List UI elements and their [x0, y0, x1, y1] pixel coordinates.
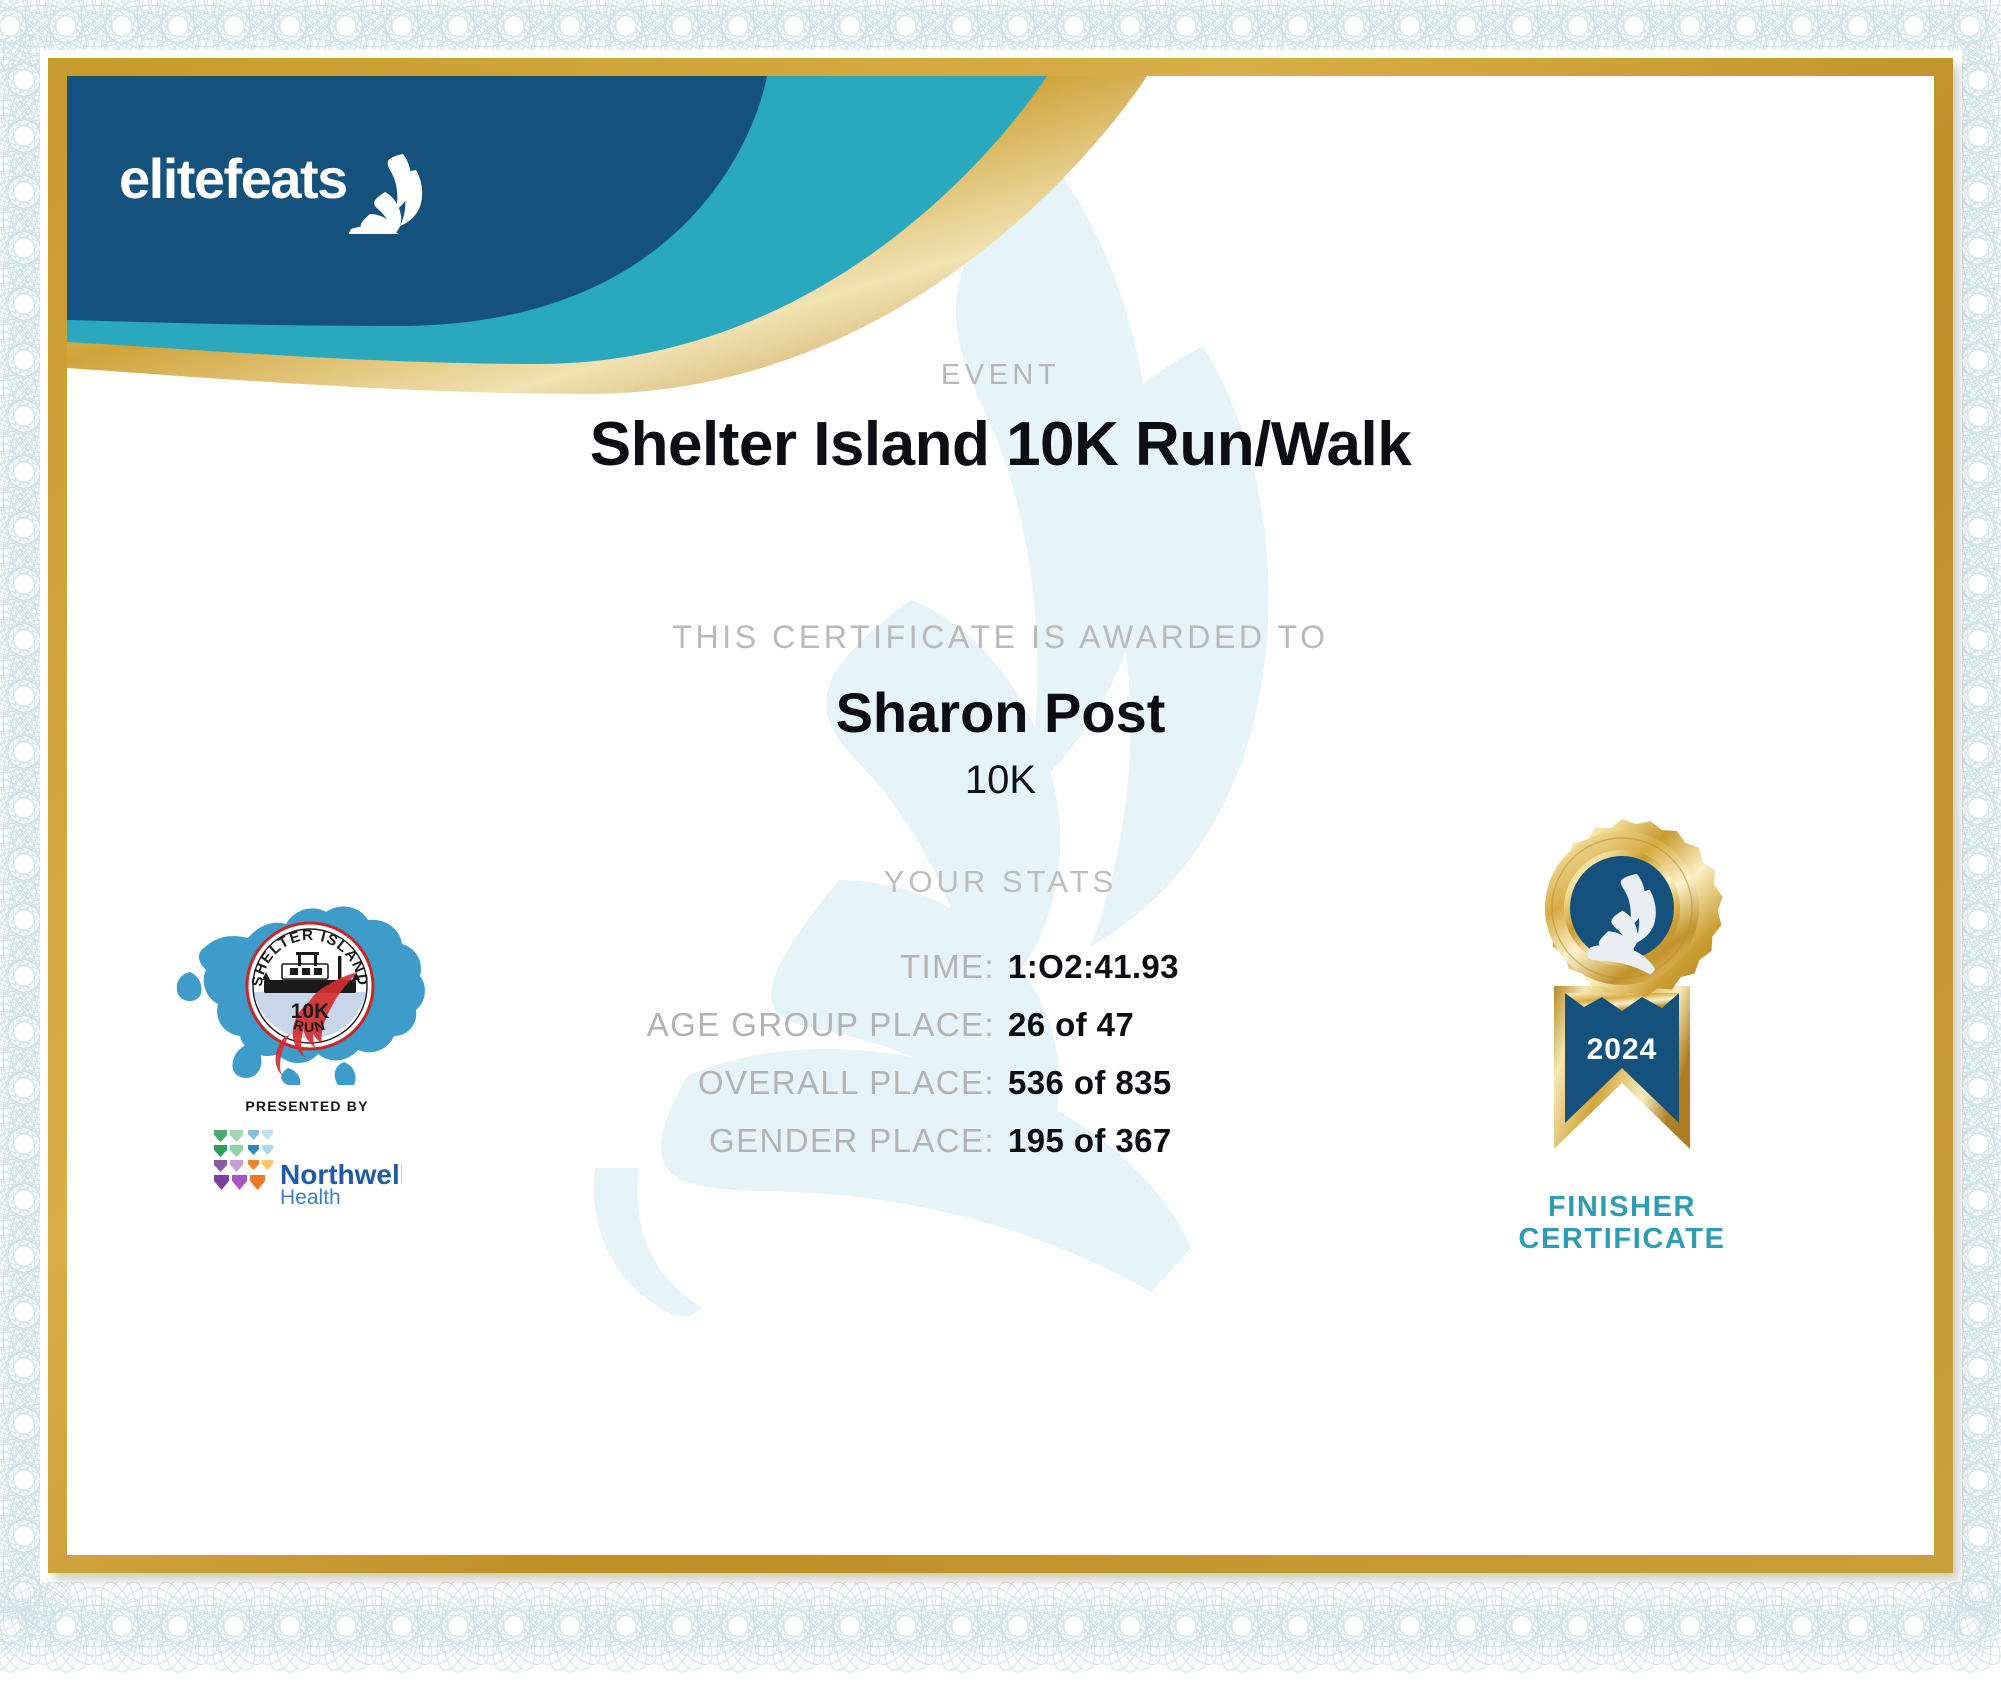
certificate-gold-frame: elitefeats EVENT Shelter Island 10K Run/… [48, 58, 1953, 1573]
stat-value: 1:O2:41.93 [1008, 948, 1179, 986]
stat-value: 26 of 47 [1008, 1006, 1134, 1044]
stat-value: 195 of 367 [1008, 1122, 1172, 1160]
medal-year: 2024 [1587, 1033, 1658, 1066]
finisher-caption-line-2: CERTIFICATE [1472, 1223, 1772, 1255]
stat-value: 536 of 835 [1008, 1064, 1172, 1102]
recipient-name: Sharon Post [67, 680, 1934, 745]
awarded-to-label: THIS CERTIFICATE IS AWARDED TO [67, 619, 1934, 656]
recipient-division: 10K [67, 758, 1934, 803]
event-label: EVENT [67, 359, 1934, 392]
northwell-health-logo: Northwell Health [212, 1128, 402, 1206]
medal-with-ribbon: 2024 [1472, 801, 1772, 1201]
event-title: Shelter Island 10K Run/Walk [67, 409, 1934, 480]
certificate-body: elitefeats EVENT Shelter Island 10K Run/… [67, 76, 1934, 1555]
ribbon: 2024 [1554, 986, 1690, 1149]
health-wordmark: Health [280, 1186, 341, 1206]
race-logo-block: 10K SHELTER ISLAND RUN [162, 876, 452, 1276]
finisher-certificate-caption: FINISHER CERTIFICATE [1472, 1191, 1772, 1256]
badge-bottom-text: RUN [292, 1016, 328, 1035]
northwell-chevron-grid [214, 1130, 273, 1190]
medal-disc [1545, 819, 1723, 997]
presented-by-label: PRESENTED BY [162, 1098, 452, 1114]
finisher-medal-block: 2024 [1472, 801, 1772, 1321]
shelter-island-10k-logo: 10K SHELTER ISLAND RUN [162, 876, 452, 1091]
finisher-caption-line-1: FINISHER [1472, 1191, 1772, 1223]
